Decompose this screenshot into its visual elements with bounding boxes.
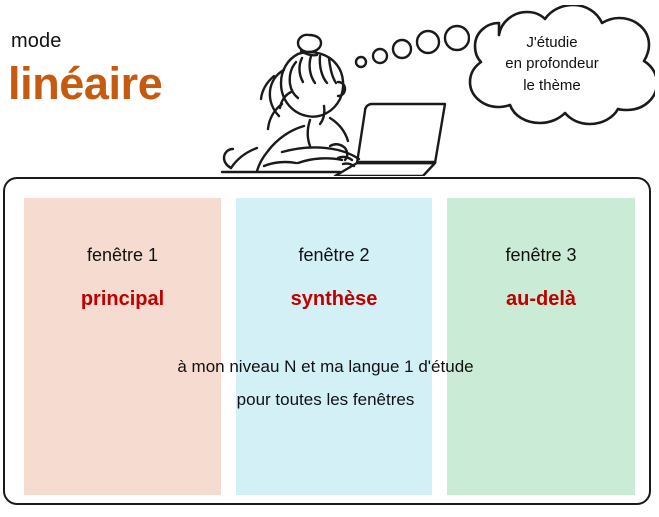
mode-value: linéaire bbox=[8, 61, 162, 106]
cloud-line-3: le thème bbox=[472, 75, 632, 96]
window-panel-3-keyword: au-delà bbox=[447, 289, 635, 309]
window-panel-2-title: fenêtre 2 bbox=[236, 246, 432, 264]
windows-board: fenêtre 1 principal fenêtre 2 synthèse f… bbox=[3, 177, 651, 505]
window-panel-2-keyword: synthèse bbox=[236, 289, 432, 309]
window-panel-1-keyword: principal bbox=[24, 289, 221, 309]
header: mode linéaire bbox=[0, 0, 659, 176]
window-panel-1[interactable]: fenêtre 1 principal bbox=[24, 198, 221, 495]
cloud-line-2: en profondeur bbox=[472, 53, 632, 74]
cloud-line-1: J'étudie bbox=[472, 32, 632, 53]
thought-cloud-text: J'étudie en profondeur le thème bbox=[472, 32, 632, 96]
mode-label: mode bbox=[11, 31, 61, 51]
window-panel-3[interactable]: fenêtre 3 au-delà bbox=[447, 198, 635, 495]
window-panel-1-title: fenêtre 1 bbox=[24, 246, 221, 264]
window-panel-3-title: fenêtre 3 bbox=[447, 246, 635, 264]
window-panel-2[interactable]: fenêtre 2 synthèse bbox=[236, 198, 432, 495]
